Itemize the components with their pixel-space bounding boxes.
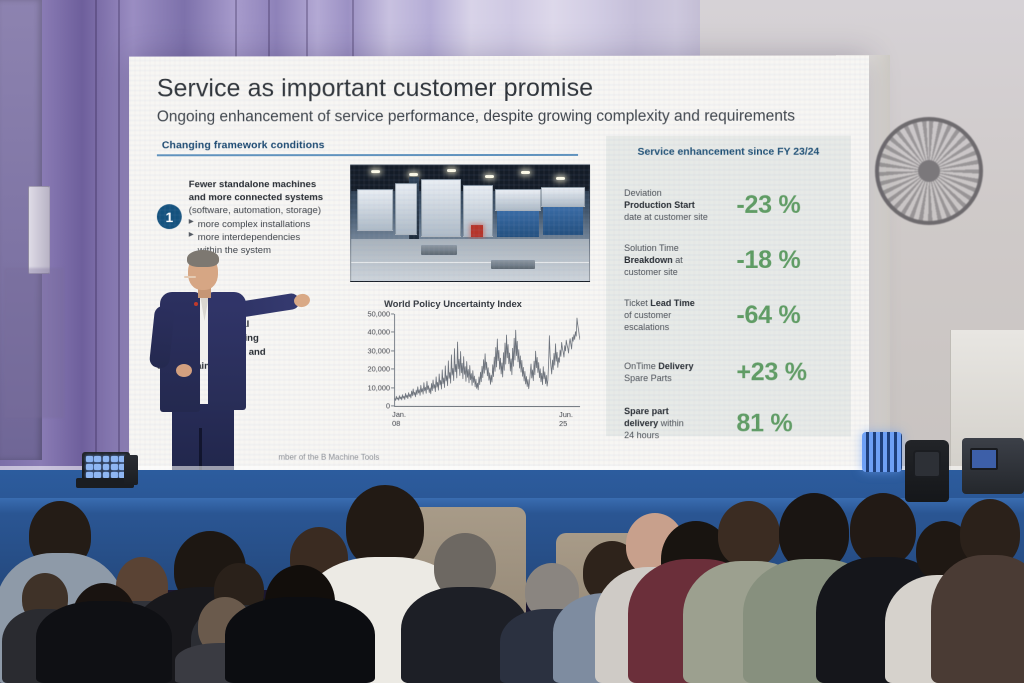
- presenter-lapel-pin: [194, 302, 198, 306]
- kpi-label: Solution Time Breakdown at customer site: [624, 243, 736, 279]
- audience-body: [931, 555, 1024, 683]
- wall-mounted-box: [28, 186, 50, 274]
- audience-body: [225, 597, 375, 683]
- chart-y-tick-label: 20,000: [368, 365, 391, 374]
- bullet-one-sub-1: more complex installations: [189, 218, 361, 231]
- kpi-label-bold: Production Start: [624, 200, 695, 210]
- kpi-label: OnTime Delivery Spare Parts: [624, 361, 736, 385]
- kpi-label-post-1: of customer: [624, 310, 736, 322]
- kpi-label-pre: Solution Time: [624, 243, 736, 255]
- photo-floor-line: [351, 261, 590, 263]
- kpi-label-post-2: escalations: [624, 322, 736, 334]
- kpi-row: Solution Time Breakdown at customer site…: [624, 243, 839, 279]
- kpi-label-bold: Delivery: [658, 361, 693, 371]
- chart-plot-area: [394, 314, 580, 406]
- photo-indicator-red: [471, 225, 483, 237]
- kpi-label-pre: OnTime: [624, 361, 658, 371]
- audience: [0, 400, 1024, 683]
- photo-pallet: [491, 260, 535, 269]
- kpi-label-pre: Deviation: [624, 188, 736, 200]
- kpi-value: -23 %: [736, 191, 838, 220]
- presenter-headset-mic: [184, 276, 196, 278]
- photo-ceiling-light: [409, 173, 418, 176]
- kpi-label: Ticket Lead Time of customer escalations: [624, 298, 736, 334]
- slide-subtitle: Ongoing enhancement of service performan…: [157, 108, 795, 127]
- audience-member: [940, 473, 1024, 683]
- conference-scene: Service as important customer promise On…: [0, 0, 1024, 683]
- factory-photo: [350, 164, 590, 282]
- wall-graphic: [4, 268, 64, 418]
- section-underline: [157, 154, 578, 156]
- photo-ceiling-light: [521, 171, 530, 174]
- photo-machine: [395, 183, 417, 235]
- photo-ceiling-light: [485, 175, 494, 178]
- audience-member: [44, 533, 164, 683]
- slide-title: Service as important customer promise: [157, 74, 593, 104]
- chart-y-tick-label: 40,000: [368, 328, 391, 337]
- photo-floor: [351, 239, 589, 281]
- kpi-value: -18 %: [736, 246, 838, 275]
- bullet-one-detail: (software, automation, storage): [189, 205, 361, 218]
- audience-member: [232, 527, 368, 683]
- kpi-label-post: customer site: [624, 267, 736, 279]
- photo-pallet: [421, 245, 457, 255]
- kpi-row: Ticket Lead Time of customer escalations…: [624, 298, 839, 334]
- bullet-one-headline-1: Fewer standalone machines: [189, 178, 361, 191]
- bullet-one-headline-2: and more connected systems: [189, 191, 361, 204]
- chart-title: World Policy Uncertainty Index: [384, 298, 522, 309]
- chart-y-tick-label: 10,000: [368, 383, 391, 392]
- photo-machine-blue: [543, 205, 583, 235]
- kpi-value: +23 %: [736, 358, 838, 387]
- kpi-panel-heading: Service enhancement since FY 23/24: [606, 147, 851, 158]
- kpi-label-post: date at customer site: [624, 212, 736, 224]
- photo-ceiling-light: [447, 169, 456, 172]
- photo-machine: [421, 179, 461, 237]
- kpi-label-bold: Breakdown: [624, 255, 673, 265]
- kpi-label-post: Spare Parts: [624, 373, 736, 385]
- photo-machine: [357, 189, 393, 231]
- industrial-fan-icon: [875, 117, 983, 225]
- kpi-label: Deviation Production Start date at custo…: [624, 188, 736, 224]
- chart-line-series: [394, 314, 580, 406]
- fan-hub: [918, 160, 940, 182]
- audience-body: [36, 601, 172, 683]
- presenter-hair: [187, 250, 219, 267]
- photo-machine: [541, 187, 585, 207]
- presenter-jacket-right: [208, 292, 246, 410]
- kpi-panel: Service enhancement since FY 23/24 Devia…: [606, 136, 851, 437]
- kpi-label-pre: Ticket: [624, 298, 650, 308]
- presenter-left-hand: [176, 364, 192, 377]
- chart-y-tick-label: 30,000: [368, 346, 391, 355]
- chart-y-tick-label: 50,000: [368, 309, 391, 318]
- kpi-label-tail: at: [673, 255, 683, 265]
- bullet-number-badge: 1: [157, 204, 182, 229]
- kpi-label-bold: Lead Time: [650, 298, 694, 308]
- kpi-row: Deviation Production Start date at custo…: [624, 188, 839, 224]
- section-heading-block: Changing framework conditions: [157, 139, 588, 156]
- photo-ceiling-light: [371, 170, 380, 173]
- kpi-value: -64 %: [736, 301, 838, 330]
- bullet-one-sub-2: more interdependencies: [189, 231, 361, 244]
- kpi-row: OnTime Delivery Spare Parts +23 %: [624, 358, 839, 387]
- section-heading-label: Changing framework conditions: [157, 139, 588, 151]
- photo-machine: [495, 189, 541, 211]
- photo-ceiling-light: [556, 177, 565, 180]
- photo-machine-blue: [497, 209, 539, 237]
